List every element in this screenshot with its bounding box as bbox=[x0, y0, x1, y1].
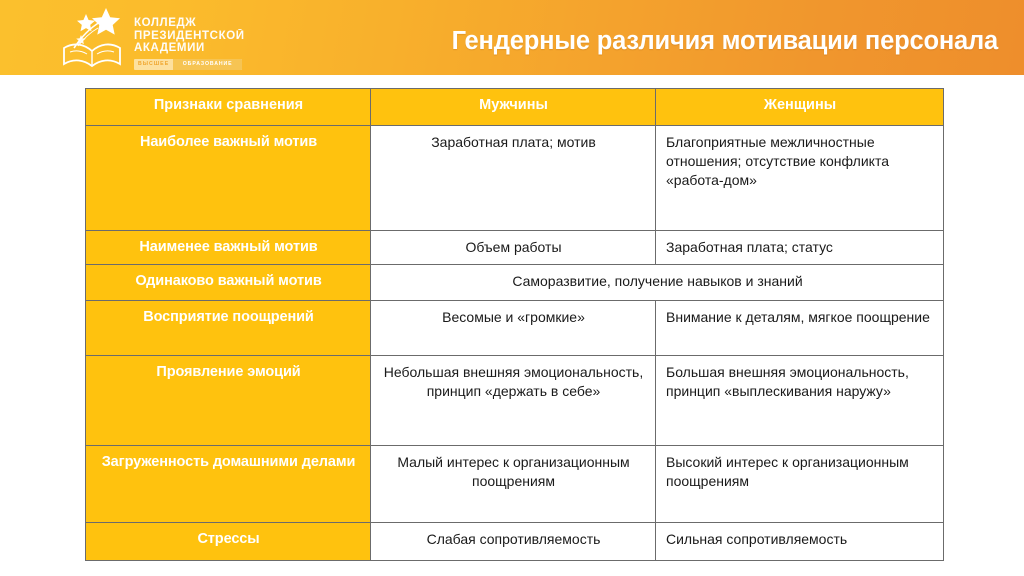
book-and-stars-emblem bbox=[58, 4, 130, 70]
value-cell-women: Сильная сопротивляемость bbox=[656, 523, 944, 561]
column-header-2: Мужчины bbox=[371, 89, 656, 126]
feature-cell: Наиболее важный мотив bbox=[86, 126, 371, 231]
feature-cell: Наименее важный мотив bbox=[86, 231, 371, 265]
table-row: Наименее важный мотивОбъем работыЗаработ… bbox=[86, 231, 944, 265]
table-row: Одинаково важный мотивСаморазвитие, полу… bbox=[86, 265, 944, 301]
value-cell-men: Малый интерес к организационным поощрени… bbox=[371, 446, 656, 523]
feature-cell: Загруженность домашними делами bbox=[86, 446, 371, 523]
college-logo: КОЛЛЕДЖ ПРЕЗИДЕНТСКОЙ АКАДЕМИИ ВЫСШЕЕ ОБ… bbox=[58, 4, 258, 72]
comparison-table: Признаки сравненияМужчиныЖенщиныНаиболее… bbox=[85, 88, 944, 561]
value-cell-men: Весомые и «громкие» bbox=[371, 301, 656, 356]
value-cell-women: Высокий интерес к организационным поощре… bbox=[656, 446, 944, 523]
table-header-row: Признаки сравненияМужчиныЖенщины bbox=[86, 89, 944, 126]
table-row: Восприятие поощренийВесомые и «громкие»В… bbox=[86, 301, 944, 356]
value-cell-women: Благоприятные межличностные отношения; о… bbox=[656, 126, 944, 231]
logo-line-2: ПРЕЗИДЕНТСКОЙ bbox=[134, 30, 245, 43]
slide: КОЛЛЕДЖ ПРЕЗИДЕНТСКОЙ АКАДЕМИИ ВЫСШЕЕ ОБ… bbox=[0, 0, 1024, 576]
value-cell-both: Саморазвитие, получение навыков и знаний bbox=[371, 265, 944, 301]
logo-badge-left-text: ВЫСШЕЕ bbox=[134, 61, 169, 67]
header-banner: КОЛЛЕДЖ ПРЕЗИДЕНТСКОЙ АКАДЕМИИ ВЫСШЕЕ ОБ… bbox=[0, 0, 1024, 75]
feature-cell: Проявление эмоций bbox=[86, 356, 371, 446]
table-row: Проявление эмоцийНебольшая внешняя эмоци… bbox=[86, 356, 944, 446]
logo-badge: ВЫСШЕЕ ОБРАЗОВАНИЕ bbox=[134, 59, 242, 70]
column-header-3: Женщины bbox=[656, 89, 944, 126]
column-header-1: Признаки сравнения bbox=[86, 89, 371, 126]
table-row: СтрессыСлабая сопротивляемостьСильная со… bbox=[86, 523, 944, 561]
table-body: Признаки сравненияМужчиныЖенщиныНаиболее… bbox=[86, 89, 944, 561]
value-cell-women: Внимание к деталям, мягкое поощрение bbox=[656, 301, 944, 356]
feature-cell: Стрессы bbox=[86, 523, 371, 561]
value-cell-men: Заработная плата; мотив bbox=[371, 126, 656, 231]
value-cell-women: Большая внешняя эмоциональность, принцип… bbox=[656, 356, 944, 446]
logo-badge-right-text: ОБРАЗОВАНИЕ bbox=[173, 59, 242, 70]
feature-cell: Восприятие поощрений bbox=[86, 301, 371, 356]
feature-cell: Одинаково важный мотив bbox=[86, 265, 371, 301]
value-cell-men: Объем работы bbox=[371, 231, 656, 265]
table-row: Загруженность домашними деламиМалый инте… bbox=[86, 446, 944, 523]
table-row: Наиболее важный мотивЗаработная плата; м… bbox=[86, 126, 944, 231]
value-cell-men: Слабая сопротивляемость bbox=[371, 523, 656, 561]
logo-line-1: КОЛЛЕДЖ bbox=[134, 17, 245, 30]
value-cell-men: Небольшая внешняя эмоциональность, принц… bbox=[371, 356, 656, 446]
logo-line-3: АКАДЕМИИ bbox=[134, 42, 245, 55]
logo-text-block: КОЛЛЕДЖ ПРЕЗИДЕНТСКОЙ АКАДЕМИИ ВЫСШЕЕ ОБ… bbox=[134, 4, 245, 70]
slide-title: Гендерные различия мотивации персонала bbox=[452, 27, 998, 56]
value-cell-women: Заработная плата; статус bbox=[656, 231, 944, 265]
